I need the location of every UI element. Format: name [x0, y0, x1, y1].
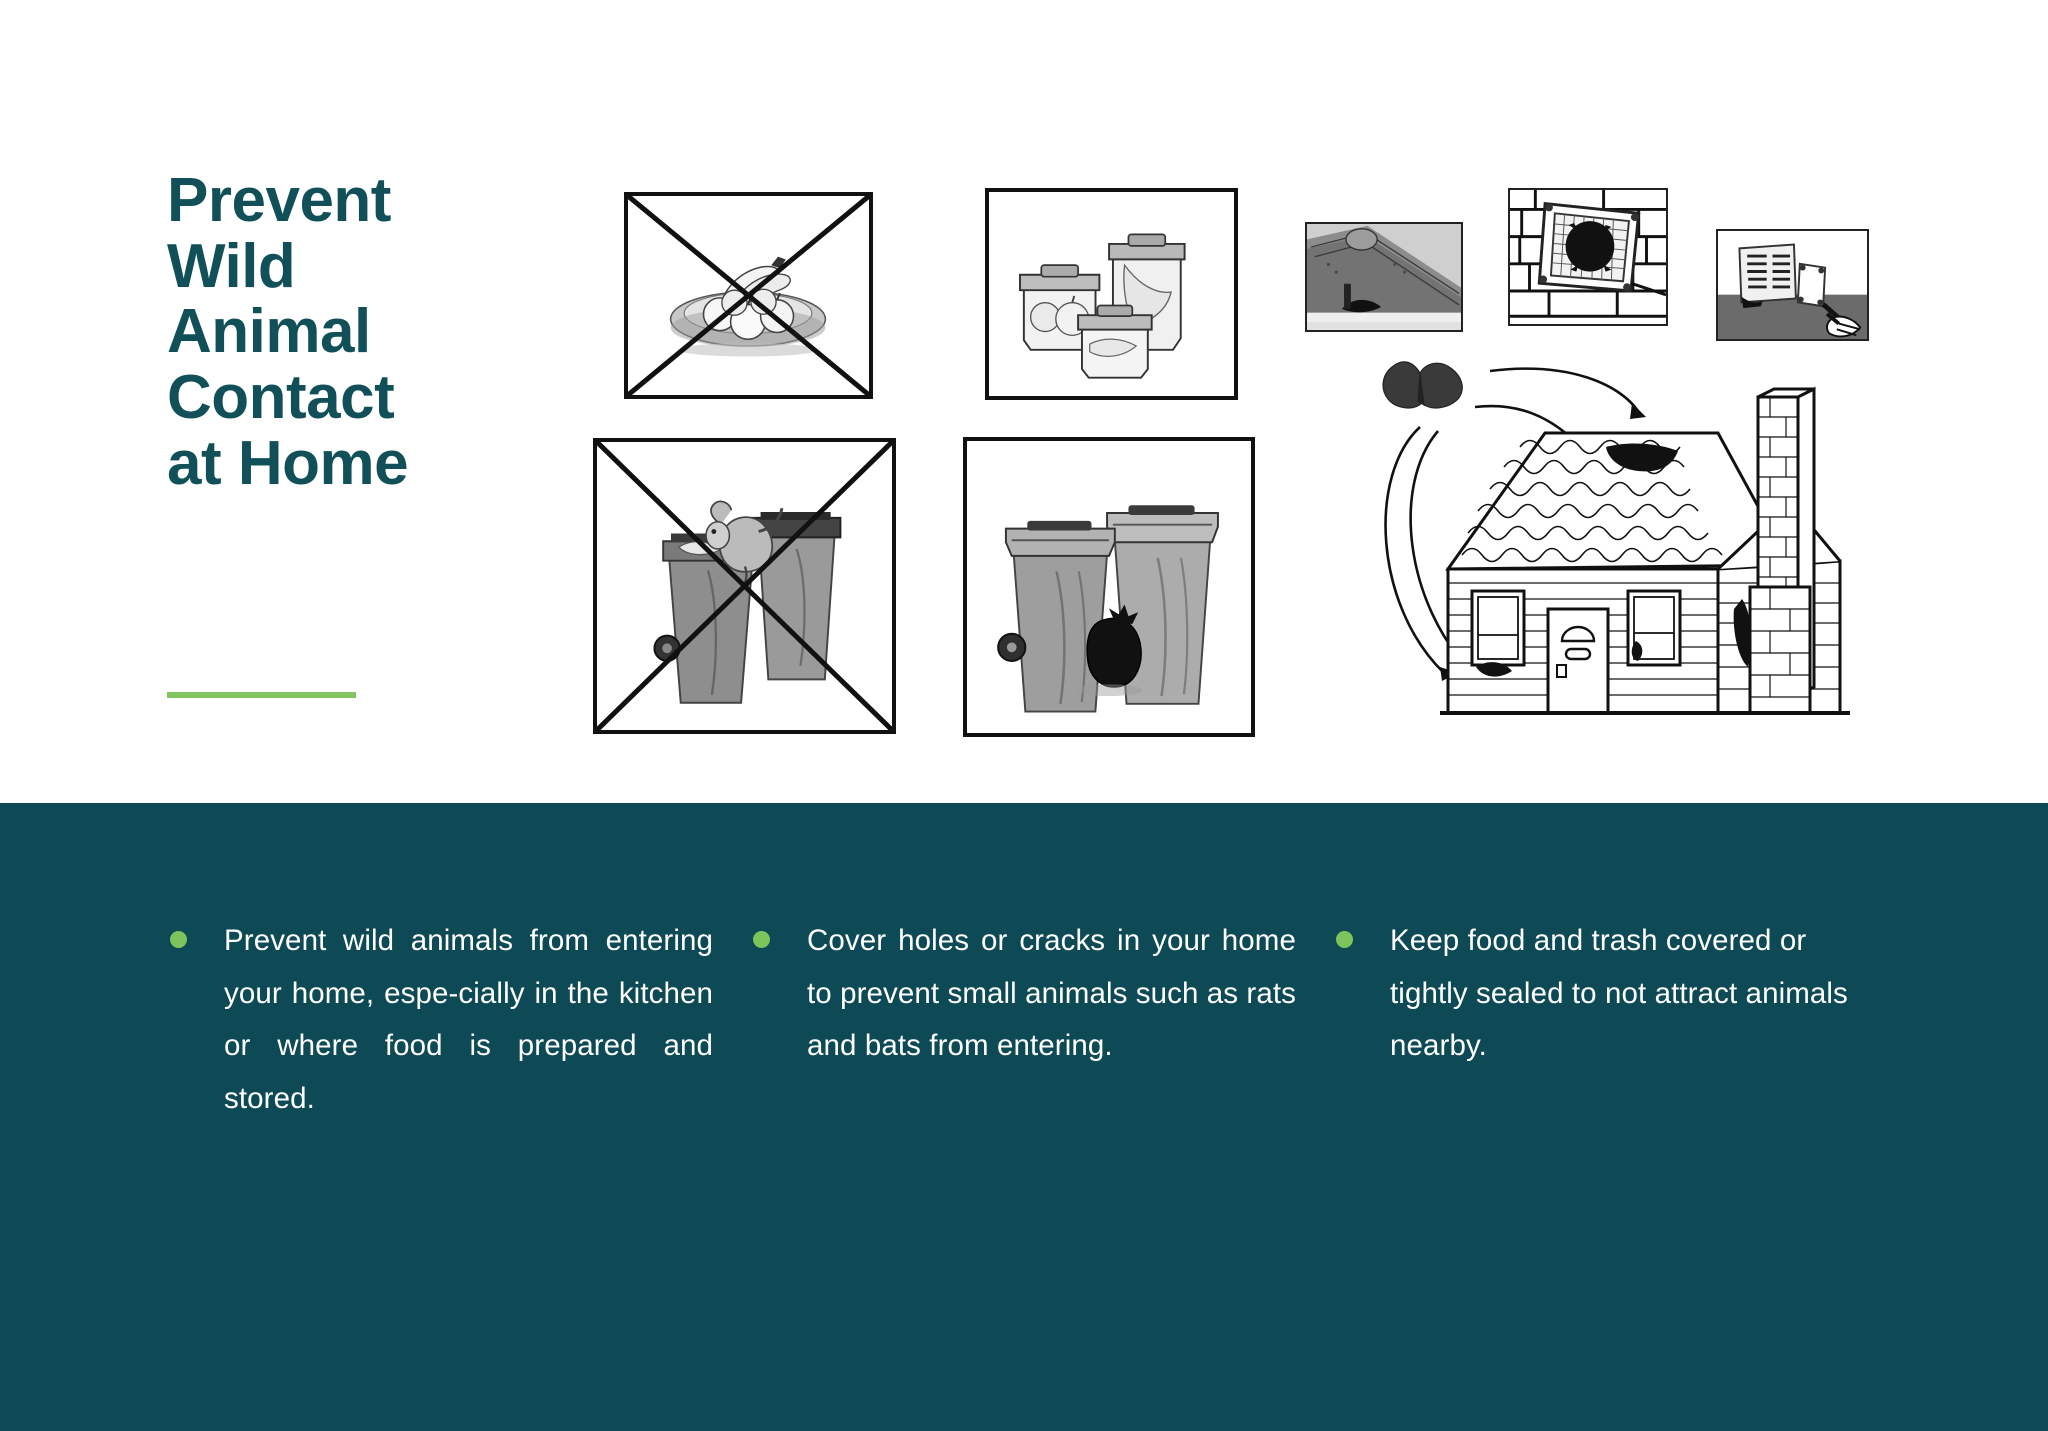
title-line-1: Prevent	[167, 168, 507, 234]
title-line-2: Wild	[167, 234, 507, 300]
house-entry-points-illustration	[1370, 355, 1875, 745]
list-item: Cover holes or cracks in your home to pr…	[753, 915, 1336, 1125]
list-item: Keep food and trash covered or tightly s…	[1336, 915, 1900, 1125]
page-title: Prevent Wild Animal Contact at Home	[167, 168, 507, 497]
slide-root: Prevent Wild Animal Contact at Home	[0, 0, 2048, 1431]
slide-title-text: Prevent Wild Animal Contact at Home	[167, 168, 507, 497]
bottom-teal-section: Prevent wild animals from entering your …	[0, 803, 2048, 1431]
minipanel-vent-cover-install	[1716, 229, 1869, 341]
top-white-section: Prevent Wild Animal Contact at Home	[0, 0, 2048, 803]
house-diagram-icon	[1370, 355, 1875, 745]
open-bins-monkey-icon	[597, 442, 892, 730]
bullet-list: Prevent wild animals from entering your …	[170, 915, 1900, 1125]
panel-sealed-food-containers	[985, 188, 1238, 400]
bullet-dot-icon	[170, 931, 187, 948]
title-line-4: Contact	[167, 365, 507, 431]
roof-tile-gap-icon	[1307, 224, 1461, 330]
closed-bins-icon	[967, 441, 1251, 733]
wire-mesh-icon	[1510, 190, 1666, 324]
vent-cover-icon	[1718, 231, 1867, 339]
panel-open-fruit-bowl	[624, 192, 873, 399]
title-line-5: at Home	[167, 431, 507, 497]
sealed-containers-icon	[989, 192, 1234, 396]
title-line-3: Animal	[167, 299, 507, 365]
minipanel-wire-mesh-over-hole	[1508, 188, 1668, 326]
bullet-text-3: Keep food and trash covered or tightly s…	[1390, 915, 1860, 1073]
panel-open-trash-bins	[593, 438, 896, 734]
list-item: Prevent wild animals from entering your …	[170, 915, 753, 1125]
panel-closed-trash-bins	[963, 437, 1255, 737]
bullet-dot-icon	[753, 931, 770, 948]
fruit-bowl-icon	[628, 196, 869, 395]
bullet-dot-icon	[1336, 931, 1353, 948]
bullet-text-2: Cover holes or cracks in your home to pr…	[807, 915, 1296, 1073]
title-underline-rule	[167, 692, 356, 698]
minipanel-roof-tile-gap	[1305, 222, 1463, 332]
bullet-text-1: Prevent wild animals from entering your …	[224, 915, 713, 1125]
